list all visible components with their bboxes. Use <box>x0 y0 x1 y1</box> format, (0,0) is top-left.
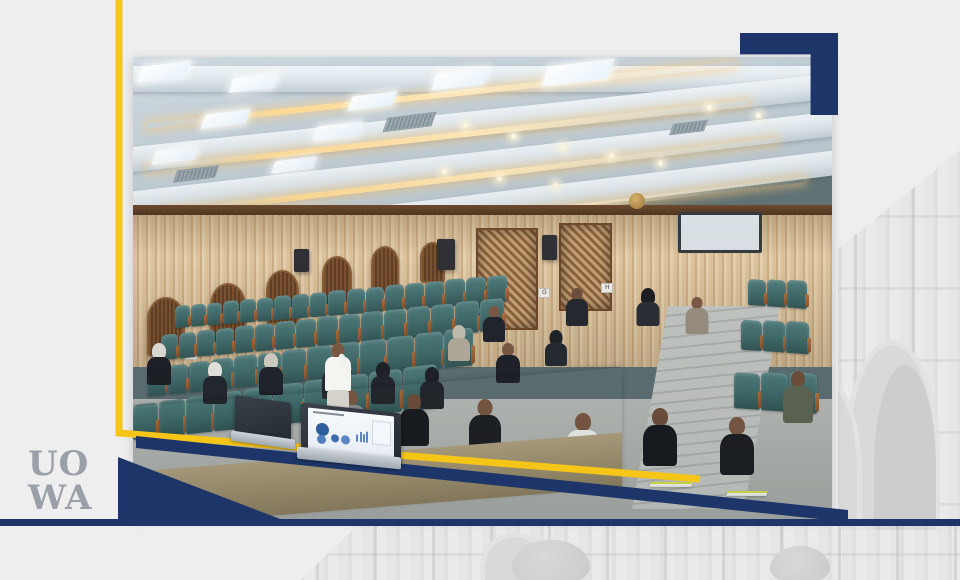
audience-person <box>545 330 567 366</box>
person-torso <box>259 367 283 395</box>
slide-bar <box>366 432 368 443</box>
ceiling-spotlight <box>462 122 469 129</box>
seat <box>741 320 762 351</box>
person-torso <box>783 386 813 423</box>
person-torso <box>545 343 567 366</box>
campus-building-backdrop-right <box>838 150 960 530</box>
slide-side-panel <box>371 420 390 447</box>
person-head <box>652 408 668 426</box>
campus-building-backdrop-bottom <box>300 524 960 580</box>
slide-donut-chart <box>340 435 349 445</box>
person-torso <box>566 299 588 326</box>
seat <box>767 279 786 307</box>
student-notebook <box>650 482 693 487</box>
laptop-closed <box>231 399 295 451</box>
person-head <box>791 371 805 387</box>
person-torso <box>147 357 171 385</box>
lecture-hall-photo: A B C D E F G H <box>133 57 832 519</box>
person-torso <box>643 425 677 466</box>
navy-divider-bar <box>0 519 960 526</box>
logo-line-1: UO <box>28 446 92 482</box>
person-torso <box>448 338 470 361</box>
logo-line-2: WA <box>28 480 92 516</box>
audience-person <box>483 306 505 342</box>
person-torso <box>685 308 708 334</box>
building-facade <box>300 524 960 580</box>
seat <box>748 279 766 306</box>
slide-donut-chart <box>331 434 339 443</box>
photo-scene: A B C D E F G H <box>133 57 832 519</box>
slide-bar <box>363 434 365 442</box>
audience-person <box>259 353 283 395</box>
slide-donut-chart <box>316 435 325 445</box>
seat <box>734 372 760 410</box>
banner-canvas: A B C D E F G H <box>0 0 960 580</box>
audience-person <box>685 297 708 334</box>
seat-section-label: G <box>538 288 550 298</box>
student-notebook <box>726 491 767 496</box>
seat-row-right <box>748 277 807 309</box>
audience-person <box>448 325 470 361</box>
person-torso <box>483 317 505 342</box>
wall-speaker <box>542 235 557 260</box>
wall-speaker <box>294 249 309 272</box>
ceiling-spotlight <box>441 168 448 175</box>
audience-person <box>636 288 659 326</box>
slide-heading <box>313 411 344 416</box>
slide-bar <box>356 435 358 442</box>
person-torso <box>636 302 659 326</box>
seat <box>787 279 807 308</box>
audience-person <box>203 362 227 404</box>
seat <box>175 305 190 328</box>
person-head <box>729 417 745 435</box>
wall-speaker <box>437 239 455 269</box>
audience-person <box>147 343 171 385</box>
seat-section-label: H <box>601 283 613 293</box>
wall-monitor <box>678 212 762 254</box>
uowa-logo: UO WA <box>28 446 92 516</box>
slide-bar <box>359 432 361 442</box>
audience-person <box>566 288 588 326</box>
front-row-student <box>783 371 813 423</box>
front-row-student <box>720 417 754 475</box>
front-row-student <box>643 408 677 466</box>
laptop-presentation <box>301 408 401 470</box>
seat <box>763 320 785 353</box>
person-torso <box>720 434 754 475</box>
seat-row-right <box>741 318 809 355</box>
seat <box>786 321 809 355</box>
